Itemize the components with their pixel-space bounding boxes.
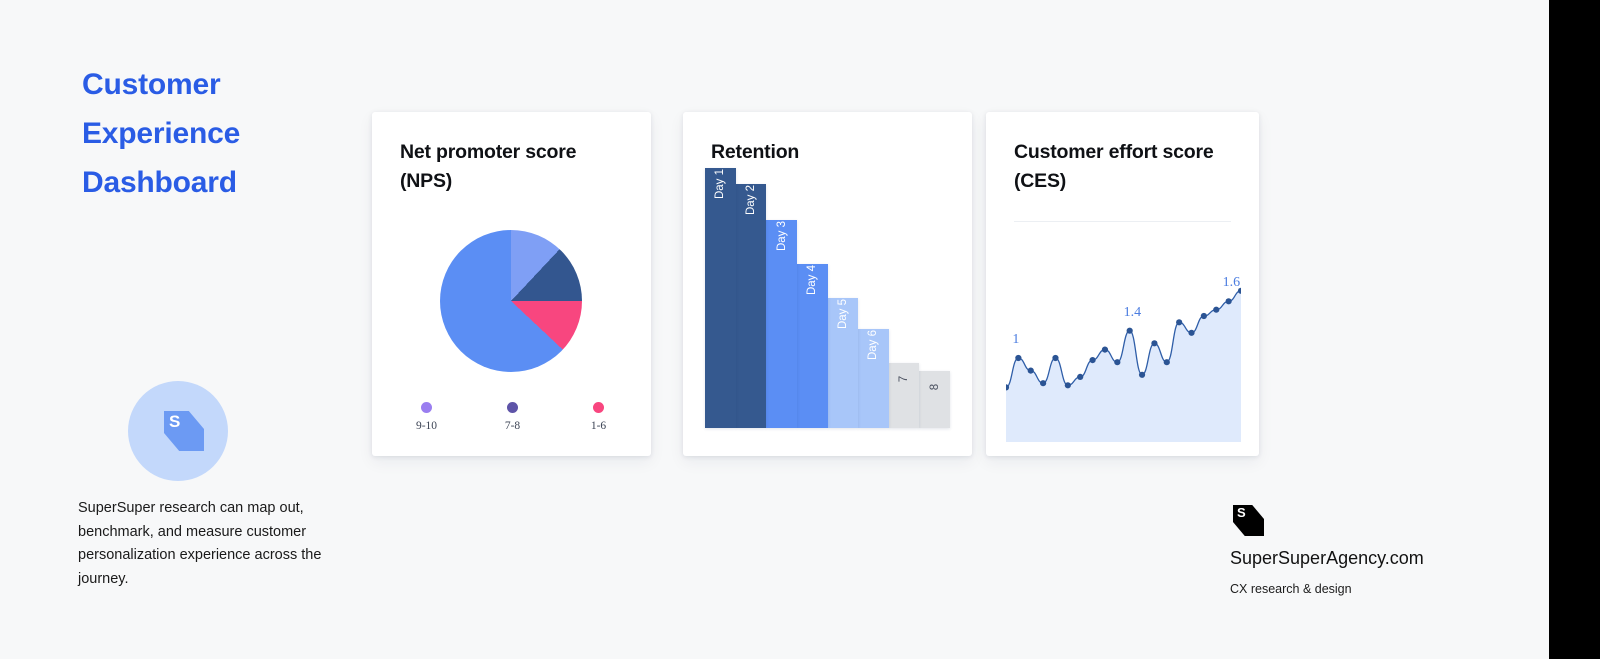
ces-annotation: 1.4: [1124, 305, 1142, 321]
legend-label-1-6: 1-6: [573, 420, 625, 432]
card-title-nps: Net promoter score (NPS): [400, 138, 620, 196]
card-title-ces: Customer effort score (CES): [1014, 138, 1219, 196]
nps-legend: 9-10 7-8 1-6: [390, 402, 635, 432]
ces-data-point[interactable]: [1213, 307, 1219, 313]
footer-tag-icon: S: [1233, 505, 1264, 536]
ces-data-point[interactable]: [1188, 330, 1194, 336]
dashboard-canvas: Customer Experience Dashboard S SuperSup…: [0, 0, 1549, 659]
ces-data-point[interactable]: [1077, 374, 1083, 380]
ces-data-point[interactable]: [1114, 359, 1120, 365]
legend-dot-7-8: [507, 402, 518, 413]
legend-label-7-8: 7-8: [487, 420, 539, 432]
retention-bar-label: 8: [929, 384, 941, 390]
page-title-line-2: Experience: [82, 109, 342, 158]
retention-bar-label: Day 5: [837, 299, 849, 329]
screenshot-root: Customer Experience Dashboard S SuperSup…: [0, 0, 1600, 659]
legend-dot-9-10: [421, 402, 432, 413]
retention-bar[interactable]: Day 6: [858, 329, 889, 428]
right-black-strip: [1549, 0, 1600, 659]
card-retention[interactable]: Retention Day 1Day 2Day 3Day 4Day 5Day 6…: [683, 112, 972, 456]
retention-bar-chart: Day 1Day 2Day 3Day 4Day 5Day 678: [705, 168, 950, 428]
retention-bar-label: Day 4: [806, 265, 818, 295]
card-title-retention: Retention: [711, 138, 931, 167]
ces-data-point[interactable]: [1102, 347, 1108, 353]
ces-data-point[interactable]: [1127, 328, 1133, 334]
ces-area-chart: 11.41.6: [1006, 232, 1241, 442]
nps-pie-chart: [440, 230, 582, 372]
retention-bar[interactable]: 7: [889, 363, 920, 428]
tag-icon: S: [164, 411, 204, 451]
ces-data-point[interactable]: [1052, 355, 1058, 361]
ces-data-point[interactable]: [1015, 355, 1021, 361]
page-title-line-1: Customer: [82, 60, 342, 109]
retention-bar[interactable]: Day 1: [705, 168, 736, 428]
legend-item[interactable]: 1-6: [573, 402, 625, 432]
page-title-line-3: Dashboard: [82, 158, 342, 207]
retention-bar[interactable]: Day 4: [797, 264, 828, 428]
card-net-promoter-score[interactable]: Net promoter score (NPS) 9-10 7-8 1-6: [372, 112, 651, 456]
ces-data-point[interactable]: [1065, 382, 1071, 388]
legend-item[interactable]: 7-8: [487, 402, 539, 432]
footer-tagline: CX research & design: [1230, 582, 1352, 596]
retention-bar[interactable]: 8: [919, 371, 950, 428]
brand-description: SuperSuper research can map out, benchma…: [78, 497, 333, 591]
retention-bar-label: Day 1: [714, 169, 726, 199]
ces-data-point[interactable]: [1226, 298, 1232, 304]
legend-label-9-10: 9-10: [401, 420, 453, 432]
ces-data-point[interactable]: [1151, 340, 1157, 346]
card-divider: [1014, 221, 1231, 222]
ces-data-point[interactable]: [1028, 368, 1034, 374]
page-title: Customer Experience Dashboard: [82, 60, 342, 207]
card-customer-effort-score[interactable]: Customer effort score (CES) 11.41.6: [986, 112, 1259, 456]
brand-logo-circle: S: [128, 381, 228, 481]
legend-item[interactable]: 9-10: [401, 402, 453, 432]
retention-bar-label: 7: [898, 376, 910, 382]
retention-bar-label: Day 2: [745, 185, 757, 215]
retention-bar[interactable]: Day 5: [828, 298, 859, 428]
retention-bar[interactable]: Day 2: [736, 184, 767, 428]
ces-data-point[interactable]: [1040, 380, 1046, 386]
ces-data-point[interactable]: [1164, 359, 1170, 365]
ces-data-point[interactable]: [1139, 372, 1145, 378]
ces-data-point[interactable]: [1089, 357, 1095, 363]
retention-bar-label: Day 3: [776, 221, 788, 251]
ces-data-point[interactable]: [1201, 313, 1207, 319]
legend-dot-1-6: [593, 402, 604, 413]
ces-data-point[interactable]: [1176, 319, 1182, 325]
tag-icon-letter: S: [169, 412, 180, 432]
footer-tag-icon-letter: S: [1237, 505, 1246, 520]
retention-bar-label: Day 6: [867, 330, 879, 360]
retention-bar[interactable]: Day 3: [766, 220, 797, 428]
ces-annotation: 1.6: [1223, 275, 1241, 291]
ces-svg: [1006, 232, 1241, 442]
footer-website-url[interactable]: SuperSuperAgency.com: [1230, 548, 1424, 569]
ces-annotation: 1: [1012, 332, 1019, 348]
